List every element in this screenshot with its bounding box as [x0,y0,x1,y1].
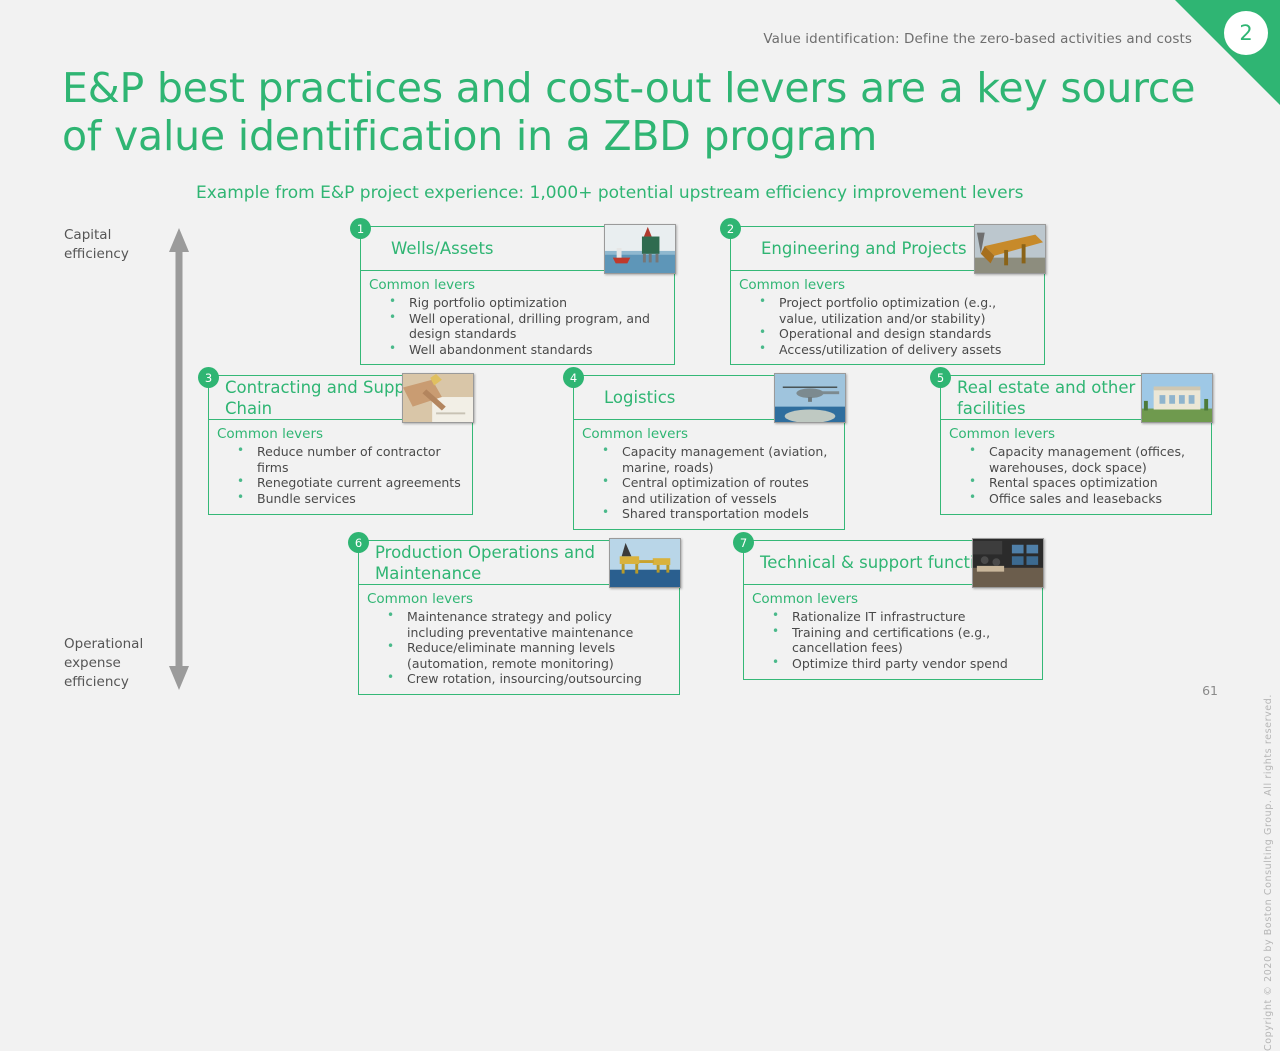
lever-list-item: Optimize third party vendor spend [768,656,1034,672]
copyright-notice: Copyright © 2020 by Boston Consulting Gr… [1263,694,1274,1051]
page-subtitle: Example from E&P project experience: 1,0… [196,183,1023,203]
lever-list-item: Access/utilization of delivery assets [755,342,1036,358]
lever-list-item: Maintenance strategy and policy includin… [383,609,671,640]
lever-list-item: Capacity management (aviation, marine, r… [598,444,836,475]
card-header: 2 Engineering and Projects [730,226,1045,271]
lever-list: Reduce number of contractor firmsRenegot… [233,444,464,506]
card-body-heading: Common levers [367,591,671,608]
office-building-photo [1141,373,1213,423]
construction-platform-photo [974,224,1046,274]
lever-list-item: Project portfolio optimization (e.g., va… [755,295,1036,326]
card-title: Engineering and Projects [731,238,973,259]
lever-list: Capacity management (offices, warehouses… [965,444,1203,506]
card-header: 4 Logistics [573,375,845,420]
lever-list-item: Central optimization of routes and utili… [598,475,836,506]
card-body: Common levers Reduce number of contracto… [208,420,473,515]
lever-list-item: Rig portfolio optimization [385,295,666,311]
lever-card-1[interactable]: 1 Wells/Assets Common levers Rig portfol… [360,226,675,365]
card-header: 3 Contracting and Supply Chain [208,375,473,420]
lever-card-6[interactable]: 6 Production Operations and Maintenance … [358,540,680,695]
card-number-badge: 1 [350,218,371,239]
lever-card-3[interactable]: 3 Contracting and Supply Chain Common le… [208,375,473,515]
axis-label-capital-efficiency: Capital efficiency [64,226,168,264]
card-body-heading: Common levers [369,277,666,294]
lever-list-item: Well abandonment standards [385,342,666,358]
lever-list: Maintenance strategy and policy includin… [383,609,671,687]
card-header: 1 Wells/Assets [360,226,675,271]
lever-list-item: Office sales and leasebacks [965,491,1203,507]
lever-list-item: Training and certifications (e.g., cance… [768,625,1034,656]
offshore-rig-photo [604,224,676,274]
card-body: Common levers Rationalize IT infrastruct… [743,585,1043,680]
lever-card-2[interactable]: 2 Engineering and Projects Common levers… [730,226,1045,365]
lever-list: Rationalize IT infrastructureTraining an… [768,609,1034,671]
card-number-badge: 7 [733,532,754,553]
control-room-photo [972,538,1044,588]
card-number-badge: 6 [348,532,369,553]
lever-card-7[interactable]: 7 Technical & support functions Common l… [743,540,1043,680]
card-title: Technical & support functions [744,552,1010,573]
card-body: Common levers Rig portfolio optimization… [360,271,675,365]
card-body-heading: Common levers [582,426,836,443]
lever-list-item: Rental spaces optimization [965,475,1203,491]
production-platform-photo [609,538,681,588]
card-body-heading: Common levers [739,277,1036,294]
page-title: E&P best practices and cost-out levers a… [62,64,1202,160]
card-body: Common levers Capacity management (aviat… [573,420,845,530]
lever-list: Rig portfolio optimizationWell operation… [385,295,666,357]
lever-list-item: Operational and design standards [755,326,1036,342]
card-body: Common levers Maintenance strategy and p… [358,585,680,695]
section-eyebrow-text: Value identification: Define the zero-ba… [763,31,1192,47]
card-body-heading: Common levers [949,426,1203,443]
card-number-badge: 4 [563,367,584,388]
card-header: 6 Production Operations and Maintenance [358,540,680,585]
card-header: 5 Real estate and other facilities [940,375,1212,420]
card-number-badge: 2 [720,218,741,239]
card-header: 7 Technical & support functions [743,540,1043,585]
card-body: Common levers Capacity management (offic… [940,420,1212,515]
card-title: Logistics [574,387,681,408]
lever-list-item: Crew rotation, insourcing/outsourcing [383,671,671,687]
lever-list-item: Bundle services [233,491,464,507]
lever-list-item: Well operational, drilling program, and … [385,311,666,342]
lever-list-item: Rationalize IT infrastructure [768,609,1034,625]
signing-contract-photo [402,373,474,423]
card-body-heading: Common levers [752,591,1034,608]
card-body: Common levers Project portfolio optimiza… [730,271,1045,365]
helicopter-photo [774,373,846,423]
lever-list-item: Shared transportation models [598,506,836,522]
card-number-badge: 5 [930,367,951,388]
lever-card-5[interactable]: 5 Real estate and other facilities Commo… [940,375,1212,515]
lever-list-item: Renegotiate current agreements [233,475,464,491]
card-number-badge: 3 [198,367,219,388]
lever-list-item: Reduce/eliminate manning levels (automat… [383,640,671,671]
lever-list-item: Reduce number of contractor firms [233,444,464,475]
lever-list: Project portfolio optimization (e.g., va… [755,295,1036,357]
axis-label-operational-expense-efficiency: Operational expense efficiency [64,635,168,692]
lever-card-4[interactable]: 4 Logistics Common levers Capacity manag… [573,375,845,530]
lever-list-item: Capacity management (offices, warehouses… [965,444,1203,475]
efficiency-axis-arrow [168,228,190,690]
page-number: 61 [1202,683,1218,698]
lever-list: Capacity management (aviation, marine, r… [598,444,836,522]
card-title: Wells/Assets [361,238,500,259]
card-body-heading: Common levers [217,426,464,443]
step-number-badge: 2 [1224,11,1268,55]
